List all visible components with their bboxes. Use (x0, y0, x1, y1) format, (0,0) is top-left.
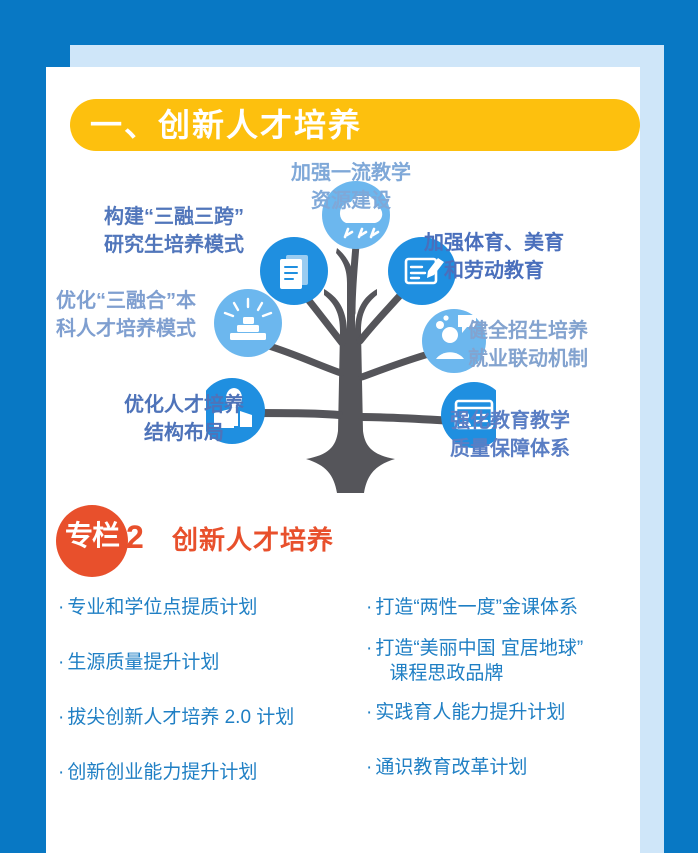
bullet-dot: · (58, 650, 67, 675)
tree-label-line1: 强化教育教学 (450, 410, 570, 432)
tree-label-top-center: 加强一流教学 资源建设 (291, 159, 411, 216)
top-blue-margin (0, 0, 698, 45)
tree-label-line2: 结构布局 (124, 419, 244, 447)
bullet-dot: · (366, 595, 375, 620)
tree-label-line1: 优化“三融合”本 (56, 290, 196, 312)
tree-label-middle-right: 健全招生培养 就业联动机制 (468, 317, 588, 374)
tree-label-line2: 质量保障体系 (450, 435, 570, 463)
list-item-label: 拔尖创新人才培养 2.0 计划 (67, 705, 358, 730)
list-item-label: 通识教育改革计划 (375, 755, 640, 780)
tree-label-line2: 研究生培养模式 (104, 231, 244, 259)
tree-label-upper-right: 加强体育、美育 和劳动教育 (424, 229, 564, 286)
list-item-label: 创新创业能力提升计划 (67, 760, 358, 785)
documents-icon (260, 237, 328, 305)
section-heading-text: 一、创新人才培养 (70, 109, 362, 141)
tree-label-lower-left: 优化人才培养 结构布局 (124, 391, 244, 448)
tree-label-line2: 科人才培养模式 (56, 315, 196, 343)
right-blue-margin (664, 0, 698, 853)
bullet-dot: · (366, 755, 375, 780)
section-heading-banner: 一、创新人才培养 (70, 99, 640, 151)
tree-label-line1: 加强体育、美育 (424, 232, 564, 254)
plans-column-left: · 专业和学位点提质计划 · 生源质量提升计划 · 拔尖创新人才培养 2.0 计… (58, 595, 358, 815)
tree-label-line2: 就业联动机制 (468, 345, 588, 373)
tree-label-line2: 资源建设 (291, 187, 411, 215)
list-item-label: 实践育人能力提升计划 (375, 700, 640, 725)
left-blue-margin (0, 0, 46, 853)
tree-label-lower-right: 强化教育教学 质量保障体系 (450, 407, 570, 464)
list-item-label: 生源质量提升计划 (67, 650, 358, 675)
badge-title: 创新人才培养 (172, 527, 334, 553)
poster-root: 一、创新人才培养 (0, 0, 698, 853)
list-item: · 拔尖创新人才培养 2.0 计划 (58, 705, 358, 730)
badge-number: 2 (126, 521, 144, 553)
tree-label-line1: 构建“三融三跨” (104, 206, 244, 228)
list-item-label: 专业和学位点提质计划 (67, 595, 358, 620)
bullet-dot: · (58, 595, 67, 620)
bullet-dot: · (58, 705, 67, 730)
tree-label-line2: 和劳动教育 (424, 257, 564, 285)
tree-label-middle-left: 优化“三融合”本 科人才培养模式 (56, 287, 196, 344)
list-item: · 打造“美丽中国 宜居地球” 课程思政品牌 (366, 636, 640, 686)
list-item: · 生源质量提升计划 (58, 650, 358, 675)
list-item: · 打造“两性一度”金课体系 (366, 595, 640, 620)
tree-label-line1: 优化人才培养 (124, 394, 244, 416)
plans-column-right: · 打造“两性一度”金课体系 · 打造“美丽中国 宜居地球” 课程思政品牌 · … (366, 595, 640, 796)
list-item: · 通识教育改革计划 (366, 755, 640, 780)
list-item: · 专业和学位点提质计划 (58, 595, 358, 620)
poster-content: 一、创新人才培养 (46, 67, 640, 853)
bullet-dot: · (366, 700, 375, 725)
bullet-dot: · (366, 636, 375, 661)
tree-label-upper-left: 构建“三融三跨” 研究生培养模式 (104, 203, 244, 260)
list-item: · 实践育人能力提升计划 (366, 700, 640, 725)
list-item: · 创新创业能力提升计划 (58, 760, 358, 785)
bullet-dot: · (58, 760, 67, 785)
list-item-line2: 课程思政品牌 (375, 661, 640, 686)
list-item-line1: 打造“美丽中国 宜居地球” (375, 638, 583, 659)
tree-label-line1: 加强一流教学 (291, 162, 411, 184)
tree-diagram: 加强一流教学 资源建设 构建“三融三跨” 研究生培养模式 优化“三融合”本 科人… (46, 159, 640, 499)
list-item-label: 打造“两性一度”金课体系 (375, 595, 640, 620)
badge-word: 专栏 (62, 522, 122, 550)
list-item-label: 打造“美丽中国 宜居地球” 课程思政品牌 (375, 636, 640, 686)
podium-award-icon (214, 289, 282, 357)
tree-label-line1: 健全招生培养 (468, 320, 588, 342)
